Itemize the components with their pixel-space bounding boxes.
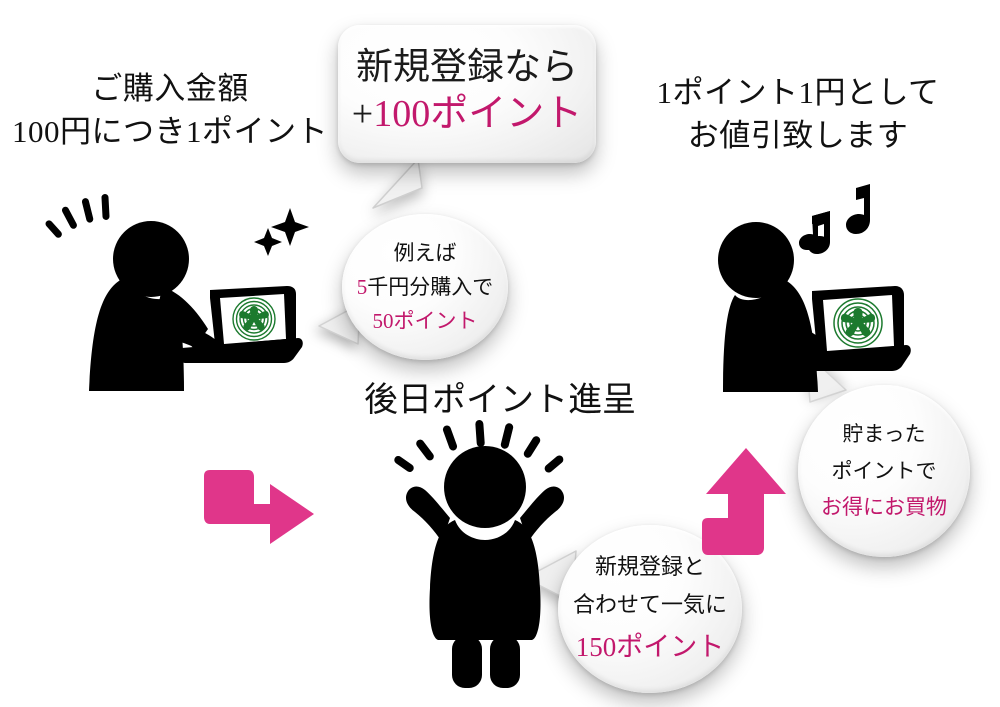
speech-bubble-example: 例えば 5千円分購入で 50ポイント bbox=[342, 214, 508, 360]
bubble-example-line3: 50ポイント bbox=[373, 304, 478, 338]
infographic-canvas: ご購入金額 100円につき1ポイント 1ポイント1円として お値引致します 新規… bbox=[0, 0, 1000, 707]
person-at-laptop-right bbox=[688, 178, 974, 398]
speech-bubble-tail-signup bbox=[372, 158, 424, 210]
speech-bubble-shopping: 貯まった ポイントで お得にお買物 bbox=[798, 385, 970, 557]
bubble-signup-line1: 新規登録なら bbox=[356, 49, 578, 88]
speech-bubble-signup-bonus: 新規登録なら +100ポイント bbox=[338, 25, 596, 163]
bubble-example-line1: 例えば bbox=[394, 236, 457, 270]
bubble-total-line2: 合わせて一気に bbox=[573, 586, 727, 624]
bubble-total-line3: 150ポイント bbox=[576, 624, 725, 670]
bubble-signup-line2: +100ポイント bbox=[352, 92, 582, 137]
caption-point-value: 1ポイント1円として お値引致します bbox=[618, 72, 978, 158]
bubble-signup-points: 100ポイント bbox=[373, 93, 582, 135]
bubble-example-line2: 5千円分購入で bbox=[357, 270, 494, 304]
music-notes-icon bbox=[799, 184, 870, 254]
elbow-arrow-right-icon bbox=[196, 462, 318, 566]
bubble-example-amount: 5 bbox=[357, 275, 368, 299]
caption-purchase-amount: ご購入金額 100円につき1ポイント bbox=[0, 68, 340, 154]
caption-purchase-amount-line2: 100円につき1ポイント bbox=[0, 111, 340, 154]
bubble-shop-line1: 貯まった bbox=[842, 416, 925, 453]
bubble-signup-plus: + bbox=[352, 93, 373, 135]
excitement-lines-icon bbox=[44, 194, 110, 239]
bubble-example-rest: 千円分購入で bbox=[367, 275, 493, 299]
bubble-shop-line3: お得にお買物 bbox=[821, 489, 947, 526]
caption-point-value-line1: 1ポイント1円として bbox=[618, 72, 978, 115]
person-silhouette bbox=[406, 446, 564, 688]
bubble-total-line1: 新規登録と bbox=[595, 548, 705, 586]
caption-purchase-amount-line1: ご購入金額 bbox=[0, 68, 340, 111]
person-arms-raised bbox=[388, 408, 596, 692]
elbow-arrow-up-icon bbox=[694, 442, 798, 568]
person-at-laptop-left bbox=[44, 186, 336, 396]
person-silhouette bbox=[89, 221, 222, 391]
bubble-shop-line2: ポイントで bbox=[832, 453, 937, 490]
sparkle-icon bbox=[254, 208, 309, 256]
caption-point-value-line2: お値引致します bbox=[618, 115, 978, 158]
